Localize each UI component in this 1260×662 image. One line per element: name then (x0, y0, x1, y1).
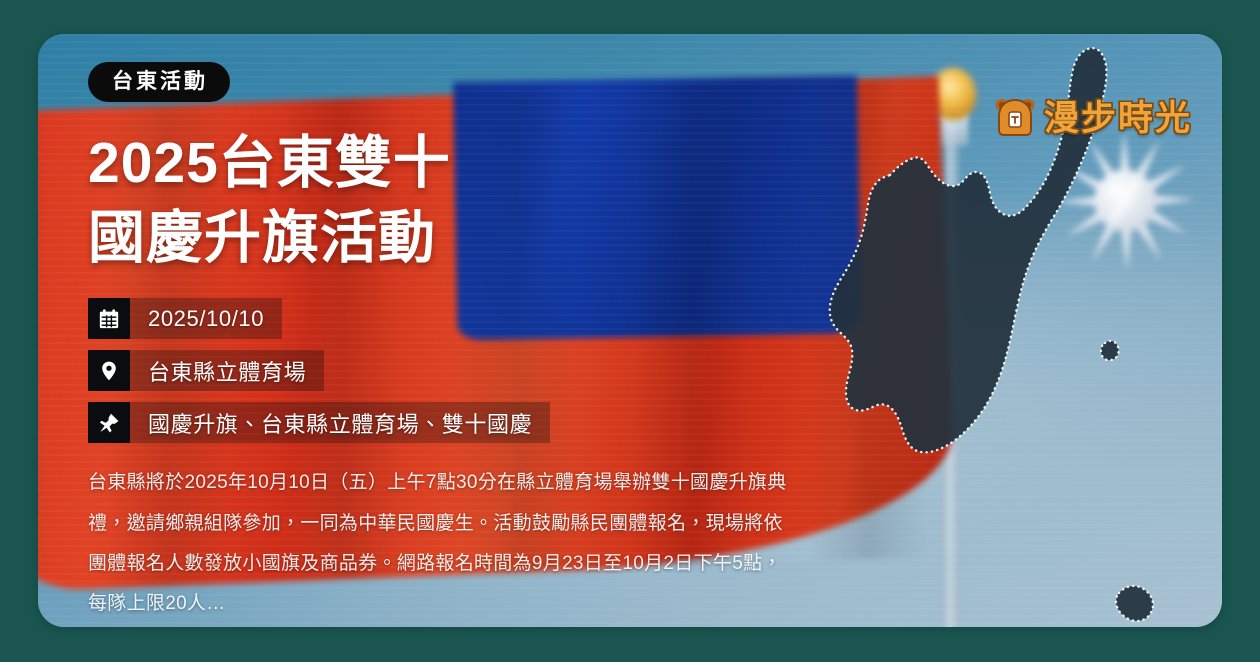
event-location: 台東縣立體育場 (130, 350, 324, 391)
pushpin-icon (88, 402, 130, 443)
location-pin-icon (88, 350, 130, 391)
meta-row-date: 2025/10/10 (88, 298, 282, 339)
title-line-1: 2025台東雙十 (88, 126, 868, 201)
meta-row-location: 台東縣立體育場 (88, 350, 324, 391)
brand-logo[interactable]: 漫步時光 (995, 90, 1192, 141)
event-tags: 國慶升旗、台東縣立體育場、雙十國慶 (130, 402, 550, 443)
title-line-2: 國慶升旗活動 (88, 201, 868, 276)
card-content: 台東活動 2025台東雙十 國慶升旗活動 (88, 62, 868, 625)
calendar-icon (88, 298, 130, 339)
bear-mascot-icon (995, 94, 1035, 138)
page-root: 漫步時光 台東活動 2025台東雙十 國慶升旗活動 (0, 0, 1260, 662)
event-description: 台東縣將於2025年10月10日（五）上午7點30分在縣立體育場舉辦雙十國慶升旗… (88, 463, 794, 624)
white-sun-icon (1054, 129, 1196, 271)
event-meta-list: 2025/10/10 台東縣立體育場 (88, 298, 868, 443)
event-date: 2025/10/10 (130, 298, 282, 339)
category-badge[interactable]: 台東活動 (88, 62, 230, 102)
page-title: 2025台東雙十 國慶升旗活動 (88, 126, 868, 276)
event-card[interactable]: 漫步時光 台東活動 2025台東雙十 國慶升旗活動 (38, 34, 1222, 627)
meta-row-tags: 國慶升旗、台東縣立體育場、雙十國慶 (88, 402, 550, 443)
brand-logo-text: 漫步時光 (1044, 90, 1192, 141)
